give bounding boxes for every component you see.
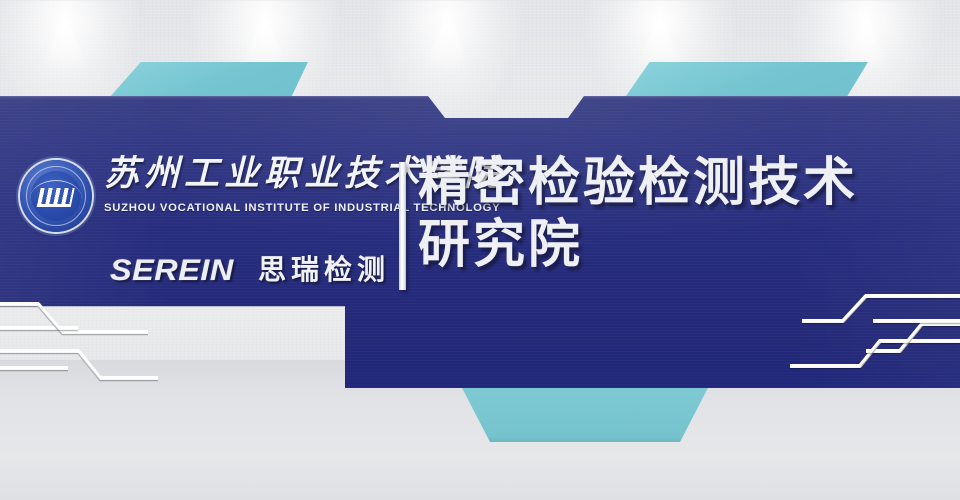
emblem-monogram: [37, 188, 74, 204]
teal-panel-bottom-center: [460, 384, 710, 442]
serein-latin-wordmark: SEREIN: [110, 254, 234, 288]
signage-scene: 苏州工业职业技术学院 SUZHOU VOCATIONAL INSTITUTE O…: [0, 0, 960, 500]
headline-title: 精密检验检测技术 研究院: [418, 152, 948, 276]
headline-line-2: 研究院: [418, 214, 948, 276]
partner-brand-block: SEREIN 思瑞检测: [110, 254, 410, 288]
board-content: 苏州工业职业技术学院 SUZHOU VOCATIONAL INSTITUTE O…: [0, 96, 960, 388]
headline-line-1: 精密检验检测技术: [418, 152, 948, 214]
vertical-divider-bar: [399, 162, 406, 290]
serein-chinese-wordmark: 思瑞检测: [258, 255, 390, 287]
university-emblem-icon: [20, 160, 92, 232]
emblem-core: [31, 171, 81, 221]
